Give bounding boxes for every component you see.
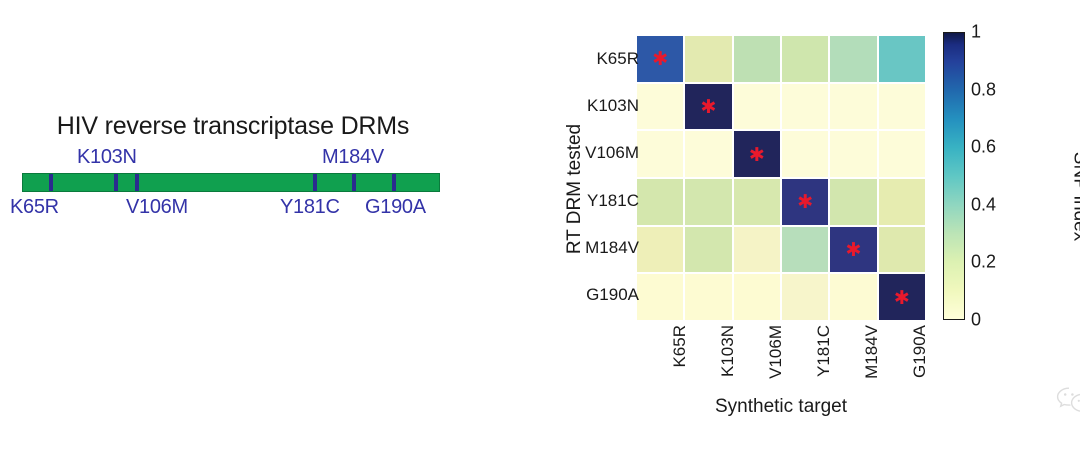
- colorbar-tick-0_2: 0.2: [971, 252, 996, 273]
- heatmap-cell: [782, 131, 828, 177]
- heatmap-cell: [782, 227, 828, 273]
- heatmap-cell: [734, 36, 780, 82]
- heatmap-cell: [637, 84, 683, 130]
- y-tick-label-k65r: K65R: [539, 49, 639, 69]
- gene-tick-k65r: [49, 174, 53, 191]
- heatmap-cell: [637, 274, 683, 320]
- heatmap-cell: [879, 36, 925, 82]
- heatmap-cell: [637, 131, 683, 177]
- heatmap-cell: [830, 274, 876, 320]
- heatmap-cell: ✱: [734, 131, 780, 177]
- heatmap-cell: ✱: [782, 179, 828, 225]
- heatmap-cell: ✱: [685, 84, 731, 130]
- heatmap-cell: [830, 179, 876, 225]
- drm-label-k65r: K65R: [10, 196, 59, 219]
- y-tick-label-m184v: M184V: [539, 238, 639, 258]
- heatmap-cell: [685, 179, 731, 225]
- colorbar-tick-0_8: 0.8: [971, 79, 996, 100]
- heatmap-cell: [879, 84, 925, 130]
- heatmap-cell: [879, 227, 925, 273]
- drm-label-y181c: Y181C: [280, 196, 340, 219]
- gene-tick-v106m: [135, 174, 139, 191]
- heatmap-cell: [637, 179, 683, 225]
- heatmap-cell: ✱: [637, 36, 683, 82]
- heatmap-cell: [685, 131, 731, 177]
- heatmap-cell: [830, 84, 876, 130]
- heatmap-cell: [734, 84, 780, 130]
- y-tick-label-v106m: V106M: [539, 143, 639, 163]
- watermark: 微信号: ChenWei_Study_Genome: [1056, 382, 1080, 418]
- heatmap-cell: [734, 179, 780, 225]
- heatmap-cell: ✱: [830, 227, 876, 273]
- colorbar-gradient: [943, 32, 965, 320]
- rt-gene-track: [22, 173, 440, 192]
- heatmap-cell: [879, 179, 925, 225]
- x-tick-label-v106m: V106M: [766, 325, 786, 415]
- colorbar-tick-0_6: 0.6: [971, 137, 996, 158]
- heatmap-grid: ✱✱✱✱✱✱: [637, 36, 925, 320]
- diagonal-star-marker: ✱: [652, 50, 668, 69]
- gene-tick-k103n: [114, 174, 118, 191]
- wechat-icon: [1056, 385, 1080, 415]
- diagonal-star-marker: ✱: [797, 193, 813, 212]
- x-tick-label-k103n: K103N: [718, 325, 738, 415]
- diagonal-star-marker: ✱: [749, 146, 765, 165]
- heatmap-cell: [685, 227, 731, 273]
- colorbar-title: Row-normalized SNP index: [1069, 87, 1080, 307]
- gene-tick-m184v: [352, 174, 356, 191]
- heatmap-cell: [830, 36, 876, 82]
- y-tick-label-g190a: G190A: [539, 285, 639, 305]
- heatmap-panel: RT DRM tested ✱✱✱✱✱✱ Synthetic target 10…: [500, 0, 1080, 459]
- x-tick-label-m184v: M184V: [862, 325, 882, 415]
- heatmap-cell: [734, 274, 780, 320]
- drm-label-m184v: M184V: [322, 146, 384, 169]
- colorbar-tick-0: 0: [971, 310, 981, 331]
- heatmap-cell: [830, 131, 876, 177]
- drm-label-g190a: G190A: [365, 196, 426, 219]
- y-tick-label-k103n: K103N: [539, 96, 639, 116]
- heatmap-cell: [637, 227, 683, 273]
- heatmap-cell: [734, 227, 780, 273]
- colorbar-tick-0_4: 0.4: [971, 194, 996, 215]
- heatmap-cell: [879, 131, 925, 177]
- colorbar: 10.80.60.40.20: [943, 32, 965, 320]
- colorbar-tick-1: 1: [971, 22, 981, 43]
- drm-diagram-panel: HIV reverse transcriptase DRMs K65RK103N…: [0, 0, 500, 459]
- heatmap-cell: [782, 274, 828, 320]
- heatmap-cell: [782, 36, 828, 82]
- heatmap-cell: [782, 84, 828, 130]
- heatmap-cell: [685, 36, 731, 82]
- diagonal-star-marker: ✱: [701, 98, 717, 117]
- y-tick-label-y181c: Y181C: [539, 191, 639, 211]
- drm-label-v106m: V106M: [126, 196, 188, 219]
- gene-tick-g190a: [392, 174, 396, 191]
- diagonal-star-marker: ✱: [894, 289, 910, 308]
- drm-label-k103n: K103N: [77, 146, 137, 169]
- heatmap-cell: ✱: [879, 274, 925, 320]
- gene-tick-y181c: [313, 174, 317, 191]
- y-axis-title: RT DRM tested: [564, 89, 586, 289]
- x-tick-label-k65r: K65R: [670, 325, 690, 415]
- colorbar-title-line2: SNP index: [1070, 152, 1080, 241]
- page-title: HIV reverse transcriptase DRMs: [0, 112, 466, 141]
- x-tick-label-g190a: G190A: [910, 325, 930, 415]
- diagonal-star-marker: ✱: [846, 241, 862, 260]
- heatmap-cell: [685, 274, 731, 320]
- x-tick-label-y181c: Y181C: [814, 325, 834, 415]
